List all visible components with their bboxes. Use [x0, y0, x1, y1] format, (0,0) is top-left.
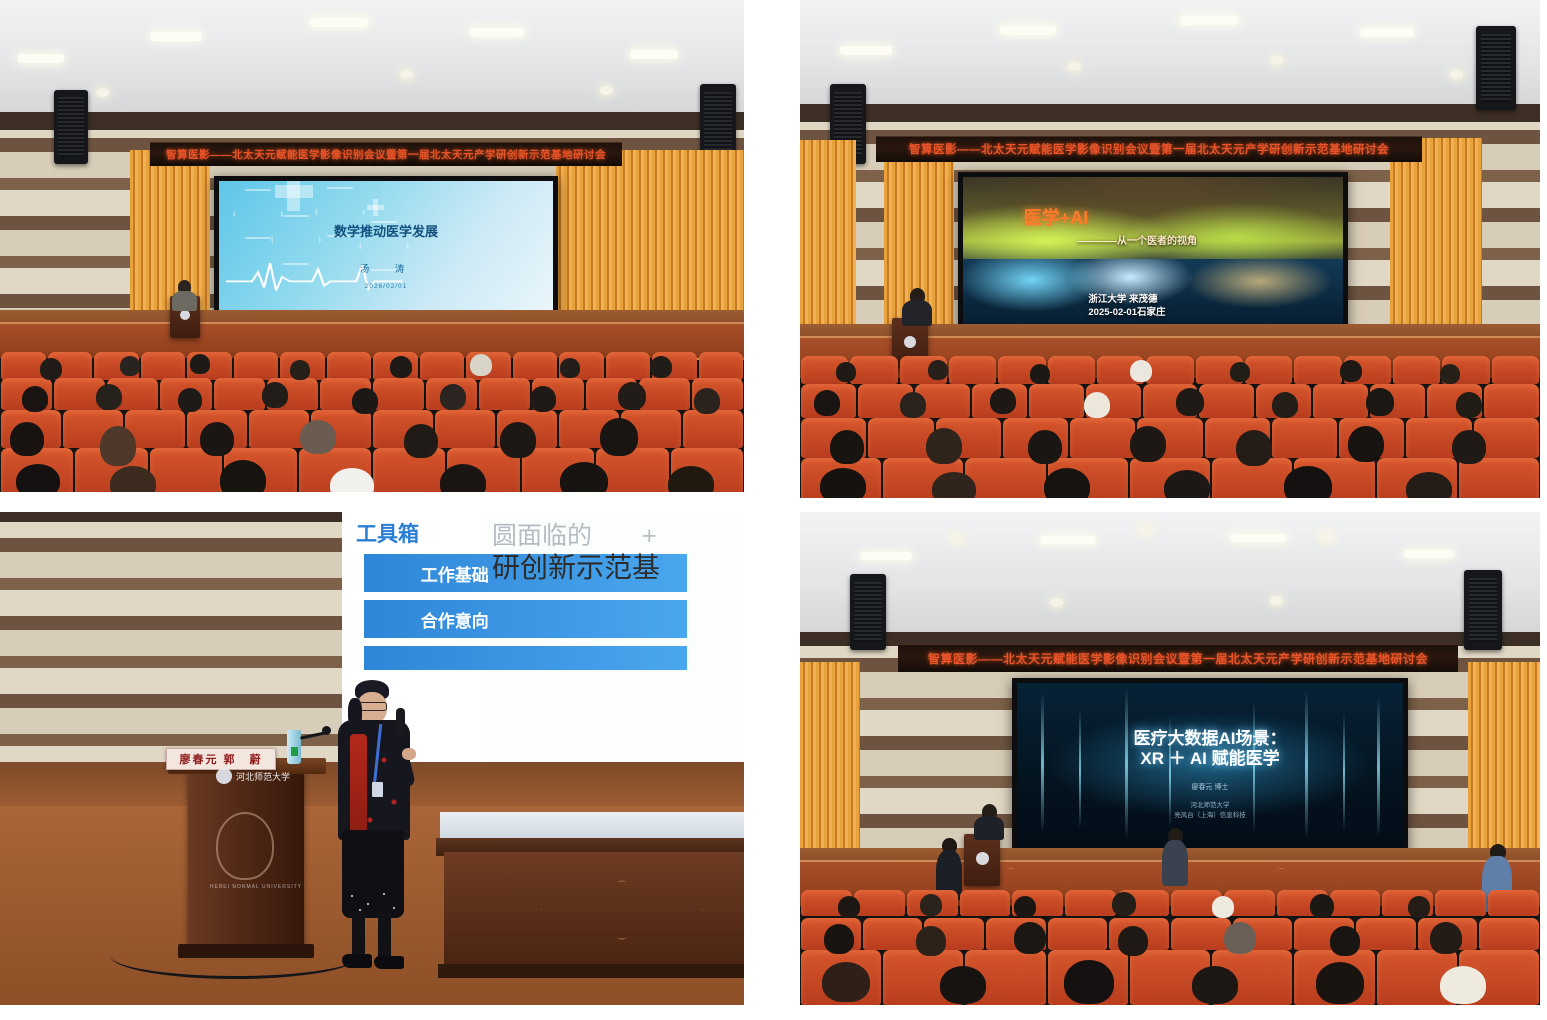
- audience-head: [1030, 364, 1050, 384]
- line-array-speaker: [1476, 26, 1516, 110]
- audience-head: [814, 390, 840, 416]
- presenter-body: [172, 291, 197, 311]
- audience-head: [500, 422, 536, 458]
- podium-university-label: 河北师范大学: [236, 770, 290, 783]
- speaker-hand: [402, 748, 416, 760]
- projection-screen: 医学+AI ————从一个医者的视角 浙江大学 来茂德 2025-02-01石家…: [958, 172, 1348, 334]
- seat: [1245, 356, 1292, 384]
- seat: [854, 890, 905, 916]
- audience-head: [940, 966, 986, 1004]
- audience-head: [1440, 966, 1486, 1004]
- audience-head: [96, 384, 122, 410]
- conference-banner: 智算医影——北太天元赋能医学影像识别会议暨第一届北太天元产学研创新示范基地研讨会: [898, 644, 1458, 672]
- slide-2: 医学+AI ————从一个医者的视角 浙江大学 来茂德 2025-02-01石家…: [963, 177, 1343, 329]
- slide-4-presenter-name: 廖春元 博士: [1017, 782, 1403, 792]
- seat: [1356, 918, 1416, 950]
- seat: [1070, 418, 1135, 458]
- audience-head: [1452, 430, 1486, 464]
- ceiling-light: [470, 28, 524, 37]
- audience-head: [1430, 922, 1462, 954]
- audience-head: [1044, 468, 1090, 498]
- seat: [850, 356, 897, 384]
- speaker-glasses-icon: [359, 702, 387, 711]
- desk-base: [438, 964, 744, 978]
- audience-head: [926, 428, 962, 464]
- slide-3-chip-2[interactable]: 合作意向: [364, 600, 687, 638]
- seat: [1459, 458, 1539, 498]
- banner-text: 智算医影——北太天元赋能医学影像识别会议暨第一届北太天元产学研创新示范基地研讨会: [166, 147, 606, 162]
- audience-head: [1130, 360, 1152, 382]
- banner-text: 智算医影——北太天元赋能医学影像识别会议暨第一届北太天元产学研创新示范基地研讨会: [928, 650, 1428, 667]
- seat: [1294, 356, 1341, 384]
- podium-front-en-label: HEBEI NORMAL UNIVERSITY: [210, 884, 302, 890]
- seat: [373, 378, 424, 410]
- audience-head: [1330, 926, 1360, 956]
- medical-cross-small-icon: [373, 199, 378, 216]
- slide-3-chip-3[interactable]: [364, 646, 687, 670]
- microphone-head: [322, 726, 331, 735]
- floor-cable: [110, 932, 360, 979]
- audience-head: [1028, 430, 1062, 464]
- wall-dark-band: [0, 512, 342, 522]
- audience-head: [100, 426, 136, 466]
- standing-attendee-body: [1162, 840, 1188, 886]
- led-screen: 医疗大数据AI场景： XR ＋ AI 赋能医学 廖春元 博士 河北师范大学 亮风…: [1012, 678, 1408, 858]
- ceiling: [800, 0, 1540, 112]
- seat: [1488, 890, 1539, 916]
- audience-head: [1316, 962, 1364, 1004]
- ceiling-downlight: [96, 88, 109, 97]
- audience-head: [932, 472, 976, 498]
- speaker-boot: [374, 956, 404, 969]
- line-array-speaker: [54, 90, 88, 164]
- audience-seating: [800, 890, 1540, 1005]
- slide-3-heading: 工具箱: [356, 518, 419, 548]
- seat: [639, 378, 690, 410]
- audience-head: [10, 422, 44, 456]
- audience-seating: [0, 352, 744, 492]
- audience-head: [1310, 894, 1334, 918]
- seat: [1048, 356, 1095, 384]
- university-emblem: [976, 852, 989, 865]
- speaker-leg: [378, 912, 391, 960]
- seat: [327, 352, 372, 380]
- photo-top-left: 智算医影——北太天元赋能医学影像识别会议暨第一届北太天元产学研创新示范基地研讨会…: [0, 0, 744, 492]
- slide-2-title: 医学+AI: [1024, 204, 1089, 230]
- ceiling-light: [630, 50, 678, 59]
- seat: [960, 890, 1011, 916]
- seat: [420, 352, 465, 380]
- line-array-speaker: [1464, 570, 1502, 650]
- audience-head: [120, 356, 140, 376]
- audience-head: [1456, 392, 1482, 418]
- slide-2-org: 浙江大学 来茂德: [1088, 291, 1157, 305]
- seat: [1330, 890, 1381, 916]
- seat: [1199, 384, 1254, 418]
- university-emblem: [216, 768, 232, 784]
- audience-head: [600, 418, 638, 456]
- seat: [1029, 384, 1084, 418]
- ceiling-light: [1360, 28, 1414, 37]
- audience-head: [190, 354, 210, 374]
- audience-head: [262, 382, 288, 408]
- audience-head: [16, 464, 60, 492]
- slide-4-title-line-2: XR ＋ AI 赋能医学: [1017, 744, 1403, 769]
- audience-head: [1192, 966, 1238, 1004]
- audience-head: [1014, 896, 1036, 918]
- audience-head: [820, 468, 866, 498]
- audience-head: [1408, 896, 1430, 918]
- audience-head: [822, 962, 870, 1002]
- photo-top-right: 智算医影——北太天元赋能医学影像识别会议暨第一届北太天元产学研创新示范基地研讨会…: [800, 0, 1540, 498]
- audience-head: [404, 424, 438, 458]
- audience-head: [618, 382, 646, 410]
- conference-banner: 智算医影——北太天元赋能医学影像识别会议暨第一届北太天元产学研创新示范基地研讨会: [876, 136, 1422, 162]
- aurora-sky: [963, 177, 1343, 262]
- seat: [965, 458, 1045, 498]
- ceiling-downlight: [1270, 596, 1283, 605]
- seat: [1171, 918, 1231, 950]
- ceiling-downlight: [950, 534, 964, 544]
- ceiling-downlight: [1450, 70, 1463, 79]
- audience-head: [830, 430, 864, 464]
- ceiling-downlight: [1320, 532, 1334, 542]
- slide-1: 数学推动医学发展 汤 涛 2026/02/01: [219, 181, 553, 315]
- seat: [1479, 918, 1539, 950]
- seat: [1065, 890, 1116, 916]
- seat: [141, 352, 186, 380]
- wall-upper-dark-band: [800, 104, 1540, 122]
- audience-head: [1164, 470, 1210, 498]
- ceiling-downlight: [600, 86, 613, 95]
- seat-row: [800, 950, 1540, 1005]
- seat: [1393, 356, 1440, 384]
- speaker-badge: [372, 782, 383, 797]
- seat: [214, 378, 265, 410]
- photo-bottom-right: 智算医影——北太天元赋能医学影像识别会议暨第一届北太天元产学研创新示范基地研讨会…: [800, 512, 1540, 1005]
- medical-cross-icon: [287, 176, 300, 211]
- seat: [699, 352, 744, 380]
- audience-head: [836, 362, 856, 382]
- audience-head: [178, 388, 202, 412]
- ceiling-light: [1000, 26, 1056, 35]
- seat: [683, 410, 743, 448]
- ceiling-downlight: [1068, 62, 1081, 71]
- audience-head: [900, 392, 926, 418]
- audience-seating: [800, 356, 1540, 498]
- slide-1-author: 汤 涛: [219, 261, 553, 275]
- microphone: [396, 708, 405, 736]
- audience-head: [1112, 892, 1136, 916]
- slide-2-date: 2025-02-01石家庄: [1088, 304, 1165, 318]
- slide-2-subtitle: ————从一个医者的视角: [1077, 232, 1197, 247]
- wall-upper-dark-band: [0, 112, 744, 130]
- university-emblem: [180, 310, 190, 320]
- seat: [949, 356, 996, 384]
- audience-head: [1340, 360, 1362, 382]
- ceiling-light: [310, 18, 368, 27]
- seat: [1313, 384, 1368, 418]
- audience-head: [650, 356, 672, 378]
- audience-head: [1284, 466, 1332, 498]
- podium-front-emblem: [216, 812, 274, 880]
- audience-head: [694, 388, 720, 414]
- audience-head: [1230, 362, 1250, 382]
- audience-head: [916, 926, 946, 956]
- ceiling-light: [1230, 534, 1286, 542]
- slide-4-affiliation-1: 河北师范大学: [1017, 799, 1403, 809]
- ceiling-light: [18, 54, 64, 63]
- name-placard: 廖春元 郭 蔚: [166, 748, 276, 770]
- slide-1-title: 数学推动医学发展: [219, 221, 553, 240]
- seat-row: [800, 356, 1540, 384]
- university-emblem: [904, 336, 916, 348]
- audience-head: [560, 462, 608, 492]
- ceiling-light: [1404, 550, 1454, 558]
- ceiling-light: [840, 46, 892, 55]
- ceiling-downlight: [1270, 56, 1283, 65]
- podium: [964, 834, 1000, 886]
- seat-row: [0, 352, 744, 380]
- projection-screen: 数学推动医学发展 汤 涛 2026/02/01: [214, 176, 558, 320]
- audience-head: [1348, 426, 1384, 462]
- presenter-body: [902, 300, 932, 326]
- banner-text: 智算医影——北太天元赋能医学影像识别会议暨第一届北太天元产学研创新示范基地研讨会: [909, 141, 1389, 157]
- audience-head: [1366, 388, 1394, 416]
- seat: [1146, 356, 1193, 384]
- audience-head: [440, 384, 466, 410]
- seat: [435, 410, 495, 448]
- audience-head: [390, 356, 412, 378]
- audience-head: [1176, 388, 1204, 416]
- audience-head: [560, 358, 580, 378]
- seat: [1, 352, 46, 380]
- speaker-scarf: [350, 734, 367, 834]
- slide-4: 医疗大数据AI场景： XR ＋ AI 赋能医学 廖春元 博士 河北师范大学 亮风…: [1017, 683, 1403, 853]
- audience-head: [40, 358, 62, 380]
- slide-3-right-text: 研创新示范基: [492, 546, 660, 586]
- audience-head: [1440, 364, 1460, 384]
- audience-head: [22, 386, 48, 412]
- audience-head: [1014, 922, 1046, 954]
- photo-bottom-left: 工具箱 工作基础 合作意向 圆面临的 + 研创新示范基 廖春元 郭 蔚 河北师范…: [0, 512, 744, 1005]
- audience-head: [352, 388, 378, 414]
- audience-head: [1064, 960, 1114, 1004]
- audience-head: [990, 388, 1016, 414]
- seat: [868, 418, 933, 458]
- audience-head: [200, 422, 234, 456]
- seat-row: [800, 918, 1540, 950]
- seat: [513, 352, 558, 380]
- audience-head: [838, 896, 860, 918]
- water-bottle: [287, 730, 301, 764]
- ceiling: [0, 0, 744, 120]
- audience-head: [470, 354, 492, 376]
- photo-collage: 智算医影——北太天元赋能医学影像识别会议暨第一届北太天元产学研创新示范基地研讨会…: [0, 0, 1547, 1020]
- presenter-body: [974, 816, 1004, 840]
- seat: [863, 918, 923, 950]
- seat: [234, 352, 279, 380]
- audience-head: [1084, 392, 1110, 418]
- audience-head: [1130, 426, 1166, 462]
- seat: [1492, 356, 1539, 384]
- slide-4-affiliation-2: 亮风台（上海）信息科技: [1017, 809, 1403, 819]
- audience-head: [1272, 392, 1298, 418]
- slide-1-date: 2026/02/01: [219, 283, 553, 290]
- seat: [1435, 890, 1486, 916]
- seat: [1048, 918, 1108, 950]
- audience-head: [300, 420, 336, 454]
- audience-head: [1236, 430, 1272, 466]
- line-array-speaker: [850, 574, 886, 650]
- audience-head: [1406, 472, 1452, 498]
- audience-head: [220, 460, 266, 492]
- ceiling-downlight: [400, 70, 413, 79]
- audience-head: [1118, 926, 1148, 956]
- audience-head: [1224, 922, 1256, 954]
- audience-head: [1212, 896, 1234, 918]
- audience-head: [920, 894, 942, 916]
- ceiling: [800, 512, 1540, 638]
- ceiling-downlight: [1050, 598, 1063, 607]
- ceiling-downlight: [1138, 524, 1152, 534]
- audience-head: [824, 924, 854, 954]
- ceiling-light: [1180, 16, 1238, 25]
- seat-row: [800, 418, 1540, 458]
- ceiling-light: [1040, 536, 1096, 544]
- ceiling-light: [860, 552, 912, 560]
- ceiling-light: [150, 32, 202, 41]
- conference-banner: 智算医影——北太天元赋能医学影像识别会议暨第一届北太天元产学研创新示范基地研讨会: [150, 142, 622, 166]
- seat: [1272, 418, 1337, 458]
- seat: [479, 378, 530, 410]
- audience-head: [530, 386, 556, 412]
- seat: [1484, 384, 1539, 418]
- side-wall: [0, 512, 342, 762]
- seat: [606, 352, 651, 380]
- audience-head: [928, 360, 948, 380]
- audience-head: [290, 360, 310, 380]
